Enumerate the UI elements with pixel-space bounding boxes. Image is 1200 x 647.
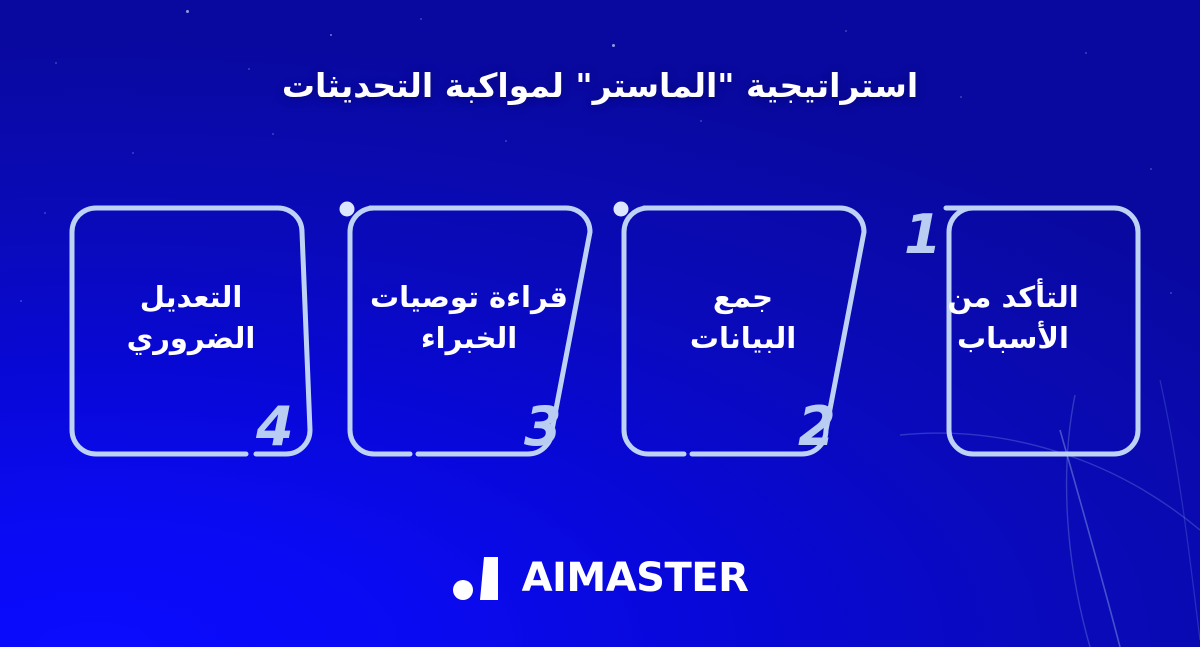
step-label-3: قراءة توصيات الخبراء: [338, 277, 600, 359]
step-number-4: 4: [256, 400, 293, 454]
step-number-1: 1: [904, 208, 941, 262]
infographic-canvas: استراتيجية "الماستر" لمواكبة التحديثات 1…: [0, 0, 1200, 647]
brand-logo-text: AIMASTER: [522, 555, 749, 601]
step-card-4[interactable]: 4 التعديل الضروري: [60, 205, 322, 457]
step-label-2: جمع البيانات: [612, 277, 874, 359]
step-label-4: التعديل الضروري: [60, 277, 322, 359]
steps-container: 1 التأكد من الأسباب 2 جمع البيانات 3 قرا…: [60, 205, 1140, 457]
page-title: استراتيجية "الماستر" لمواكبة التحديثات: [0, 66, 1200, 105]
step-card-2-dot: [614, 202, 629, 217]
step-card-1[interactable]: 1 التأكد من الأسباب: [886, 205, 1140, 457]
step-number-3: 3: [524, 400, 561, 454]
step-card-3[interactable]: 3 قراءة توصيات الخبراء: [338, 205, 600, 457]
aimaster-logo-mark-icon: [452, 555, 508, 601]
step-number-2: 2: [798, 400, 835, 454]
brand-logo[interactable]: AIMASTER: [0, 548, 1200, 608]
step-card-2[interactable]: 2 جمع البيانات: [612, 205, 874, 457]
step-label-1: التأكد من الأسباب: [886, 277, 1140, 359]
step-card-3-dot: [340, 202, 355, 217]
